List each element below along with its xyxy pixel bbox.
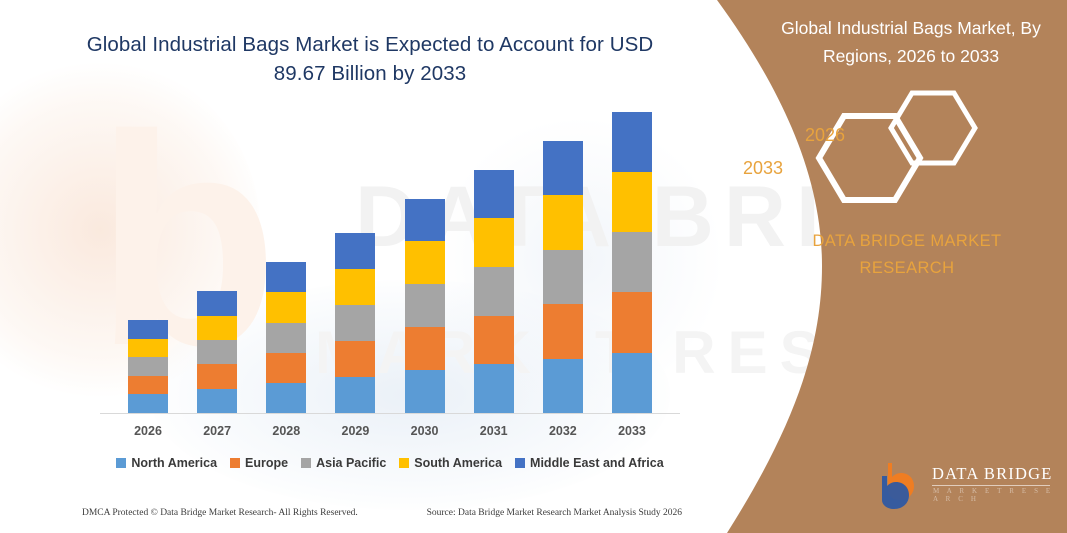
bar-segment [405, 284, 445, 327]
chart-column [460, 170, 528, 413]
bar-segment [335, 269, 375, 305]
bar-segment [612, 112, 652, 172]
bar-segment [612, 232, 652, 292]
stacked-bar [266, 262, 306, 413]
bar-segment [197, 316, 237, 340]
bar-segment [266, 323, 306, 353]
right-panel: Global Industrial Bags Market, By Region… [697, 0, 1067, 533]
chart-column [391, 199, 459, 413]
infographic-canvas: b DATA BRIDGE MARKET RESEARCH Global Ind… [0, 0, 1067, 533]
legend-label: South America [414, 456, 502, 470]
logo-divider [932, 485, 1050, 486]
logo-tagline: M A R K E T R E S E A R C H [933, 487, 1055, 503]
bar-segment [128, 339, 168, 358]
legend-label: Middle East and Africa [530, 456, 664, 470]
bar-segment [128, 357, 168, 376]
x-axis-label: 2026 [114, 424, 182, 438]
panel-brand-line-1: DATA BRIDGE MARKET [767, 228, 1047, 255]
bar-segment [405, 327, 445, 370]
legend-item[interactable]: Europe [230, 456, 288, 470]
bar-segment [335, 377, 375, 413]
stacked-bar [197, 291, 237, 413]
logo-name: DATA BRIDGE [932, 464, 1053, 484]
stacked-bar [474, 170, 514, 413]
x-axis-label: 2030 [391, 424, 459, 438]
chart-column [183, 291, 251, 413]
bar-segment [474, 170, 514, 219]
bar-segment [128, 394, 168, 413]
x-axis-label: 2028 [252, 424, 320, 438]
legend-label: Europe [245, 456, 288, 470]
chart-bars [100, 100, 680, 413]
legend-item[interactable]: Middle East and Africa [515, 456, 664, 470]
chart-column [252, 262, 320, 413]
bar-segment [266, 292, 306, 322]
bar-segment [335, 233, 375, 269]
bar-segment [197, 291, 237, 315]
footer-copyright: DMCA Protected © Data Bridge Market Rese… [82, 508, 358, 518]
panel-title: Global Industrial Bags Market, By Region… [767, 14, 1055, 70]
panel-brand-name: DATA BRIDGE MARKET RESEARCH [767, 228, 1047, 282]
hexagon-group [802, 88, 1002, 208]
bar-segment [197, 389, 237, 413]
bar-segment [197, 340, 237, 364]
bar-segment [612, 172, 652, 232]
footer-source: Source: Data Bridge Market Research Mark… [427, 508, 682, 518]
bar-segment [543, 304, 583, 358]
bar-segment [405, 241, 445, 284]
bar-segment [266, 383, 306, 413]
bar-segment [474, 316, 514, 365]
legend-swatch-icon [515, 458, 525, 468]
legend-item[interactable]: Asia Pacific [301, 456, 386, 470]
bar-segment [543, 359, 583, 413]
legend-swatch-icon [230, 458, 240, 468]
stacked-bar [612, 112, 652, 413]
panel-brand-line-2: RESEARCH [767, 255, 1047, 282]
bar-segment [612, 353, 652, 413]
hexagon-2033-label: 2033 [743, 158, 783, 179]
legend-label: Asia Pacific [316, 456, 386, 470]
bar-segment [543, 195, 583, 249]
legend-swatch-icon [301, 458, 311, 468]
x-axis-label: 2032 [529, 424, 597, 438]
legend-swatch-icon [116, 458, 126, 468]
bar-segment [405, 370, 445, 413]
chart-column [114, 320, 182, 413]
chart-legend: North AmericaEuropeAsia PacificSouth Ame… [100, 456, 680, 470]
bar-segment [474, 267, 514, 316]
data-bridge-logo-icon [880, 460, 932, 510]
bar-segment [128, 376, 168, 395]
legend-item[interactable]: North America [116, 456, 217, 470]
chart-x-axis-labels: 20262027202820292030203120322033 [100, 424, 680, 438]
footer: DMCA Protected © Data Bridge Market Rese… [82, 508, 682, 518]
bar-segment [128, 320, 168, 339]
chart-axis-line [100, 413, 680, 414]
bar-segment [543, 250, 583, 304]
bar-segment [335, 341, 375, 377]
hexagon-shapes [802, 88, 1002, 218]
bar-segment [405, 199, 445, 242]
chart-column [529, 141, 597, 413]
stacked-bar [543, 141, 583, 413]
stacked-bar-chart [100, 100, 680, 413]
page-title: Global Industrial Bags Market is Expecte… [60, 30, 680, 88]
legend-swatch-icon [399, 458, 409, 468]
bar-segment [266, 262, 306, 292]
stacked-bar [128, 320, 168, 413]
x-axis-label: 2029 [321, 424, 389, 438]
chart-column [321, 233, 389, 413]
bar-segment [197, 364, 237, 388]
bar-segment [474, 364, 514, 413]
bar-segment [335, 305, 375, 341]
stacked-bar [335, 233, 375, 413]
brand-logo: DATA BRIDGE M A R K E T R E S E A R C H [880, 460, 1055, 512]
legend-item[interactable]: South America [399, 456, 502, 470]
bar-segment [266, 353, 306, 383]
hexagon-2026-label: 2026 [805, 125, 845, 146]
chart-column [598, 112, 666, 413]
bar-segment [474, 218, 514, 267]
x-axis-label: 2033 [598, 424, 666, 438]
x-axis-label: 2031 [460, 424, 528, 438]
legend-label: North America [131, 456, 217, 470]
x-axis-label: 2027 [183, 424, 251, 438]
panel-content: Global Industrial Bags Market, By Region… [697, 0, 1067, 533]
stacked-bar [405, 199, 445, 413]
bar-segment [543, 141, 583, 195]
bar-segment [612, 292, 652, 352]
